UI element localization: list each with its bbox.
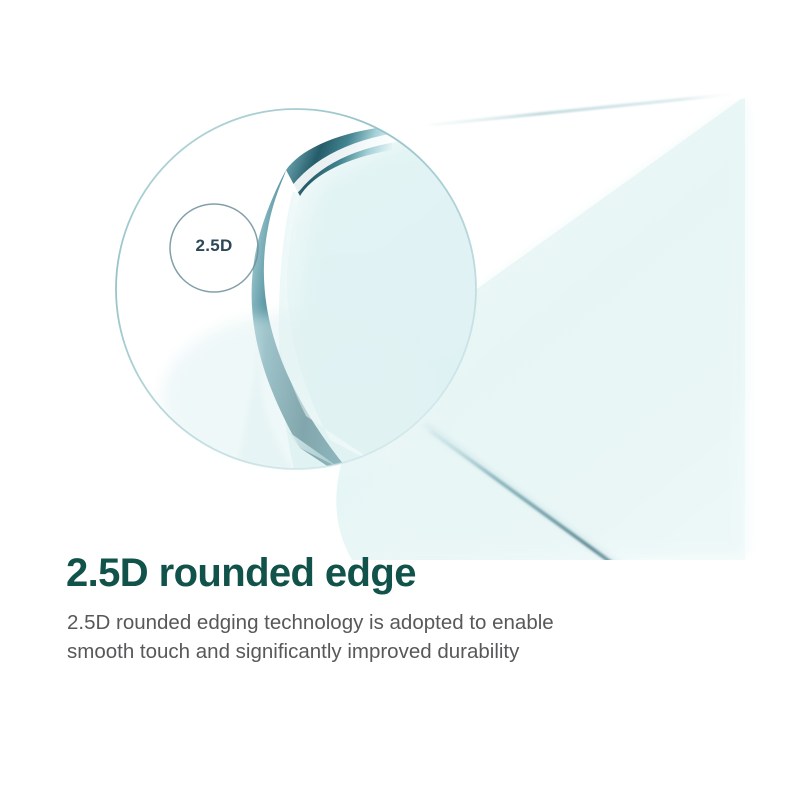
caption-block: 2.5D rounded edge 2.5D rounded edging te… — [66, 552, 706, 666]
product-illustration: 2.5D — [0, 0, 800, 560]
glass-sheet-top-highlight — [430, 97, 745, 129]
page-title: 2.5D rounded edge — [66, 552, 706, 594]
glass-illustration-svg — [0, 0, 800, 560]
description-line-1: 2.5D rounded edging technology is adopte… — [67, 608, 607, 637]
description-line-2: smooth touch and significantly improved … — [67, 637, 607, 666]
description-text: 2.5D rounded edging technology is adopte… — [67, 608, 607, 666]
glass-sheet-top-edge — [430, 93, 745, 125]
product-feature-card: 2.5D 2.5D rounded edge 2.5D rounded edgi… — [0, 0, 800, 800]
